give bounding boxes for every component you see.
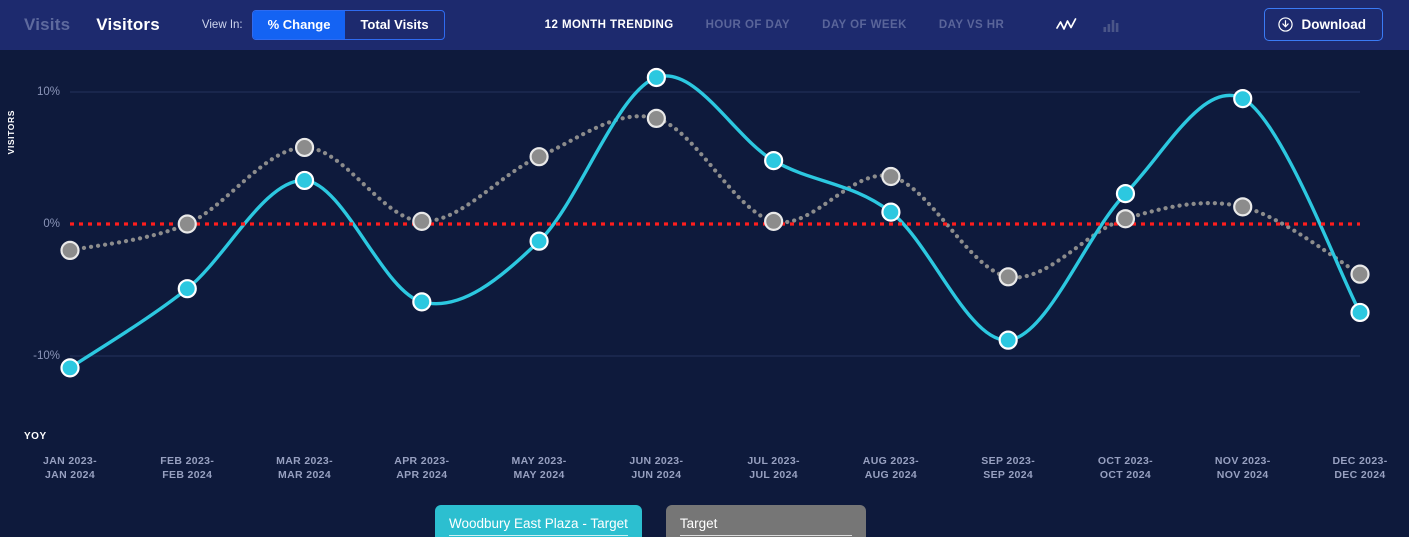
data-point[interactable] <box>413 293 430 310</box>
data-point[interactable] <box>765 152 782 169</box>
data-point[interactable] <box>1000 332 1017 349</box>
data-point[interactable] <box>62 242 79 259</box>
data-point[interactable] <box>179 216 196 233</box>
x-tick-label: JAN 2023-JAN 2024 <box>5 454 135 482</box>
x-tick-label: MAY 2023-MAY 2024 <box>474 454 604 482</box>
view-in-percent-change-button[interactable]: % Change <box>253 11 346 39</box>
data-point[interactable] <box>1352 266 1369 283</box>
download-label: Download <box>1302 17 1367 32</box>
nav-hour-of-day[interactable]: HOUR OF DAY <box>706 19 790 31</box>
download-circle-icon <box>1278 17 1293 32</box>
x-tick-line2: FEB 2024 <box>122 468 252 482</box>
x-tick-line2: OCT 2024 <box>1060 468 1190 482</box>
data-point[interactable] <box>296 139 313 156</box>
x-tick-line2: MAY 2024 <box>474 468 604 482</box>
x-tick-line2: JAN 2024 <box>5 468 135 482</box>
legend-primary-name: Woodbury East Plaza - Target <box>449 513 628 536</box>
gridlines <box>70 92 1360 356</box>
data-point[interactable] <box>648 110 665 127</box>
data-point[interactable] <box>765 213 782 230</box>
data-point[interactable] <box>531 148 548 165</box>
x-tick-line1: MAY 2023- <box>474 454 604 468</box>
series-target <box>70 116 1360 277</box>
data-point[interactable] <box>882 204 899 221</box>
nav-day-of-week[interactable]: DAY OF WEEK <box>822 19 907 31</box>
x-tick-label: JUL 2023-JUL 2024 <box>709 454 839 482</box>
x-tick-label: FEB 2023-FEB 2024 <box>122 454 252 482</box>
data-point[interactable] <box>296 172 313 189</box>
data-point[interactable] <box>1234 198 1251 215</box>
x-tick-line1: MAR 2023- <box>240 454 370 468</box>
x-tick-label: AUG 2023-AUG 2024 <box>826 454 956 482</box>
x-tick-line2: MAR 2024 <box>240 468 370 482</box>
x-tick-line1: JUL 2023- <box>709 454 839 468</box>
data-point[interactable] <box>648 69 665 86</box>
data-point[interactable] <box>179 280 196 297</box>
line-chart-icon[interactable] <box>1056 18 1077 32</box>
x-tick-line2: JUN 2024 <box>591 468 721 482</box>
view-in-segmented-control: % Change Total Visits <box>252 10 445 40</box>
chart-area: VISITORS YOY 10% 0% -10% JAN 2023-JAN 20… <box>0 50 1409 537</box>
legend-card-woodbury[interactable]: Woodbury East Plaza - Target Jan 2024 - … <box>435 505 642 537</box>
x-tick-label: DEC 2023-DEC 2024 <box>1295 454 1409 482</box>
data-points-woodbury <box>62 69 1369 376</box>
x-tick-line2: AUG 2024 <box>826 468 956 482</box>
download-button[interactable]: Download <box>1264 8 1384 41</box>
x-tick-line1: OCT 2023- <box>1060 454 1190 468</box>
legend-secondary-name: Target <box>680 513 852 536</box>
x-tick-line2: NOV 2024 <box>1178 468 1308 482</box>
x-tick-label: MAR 2023-MAR 2024 <box>240 454 370 482</box>
bar-chart-icon[interactable] <box>1103 18 1121 32</box>
app-header: Visits Visitors View In: % Change Total … <box>0 0 1409 50</box>
view-in-control: View In: % Change Total Visits <box>202 10 445 40</box>
chart-plot <box>0 50 1409 450</box>
data-point[interactable] <box>62 359 79 376</box>
x-tick-label: JUN 2023-JUN 2024 <box>591 454 721 482</box>
data-point[interactable] <box>1117 185 1134 202</box>
legend-card-target[interactable]: Target Jan 2024 - Dec 2024 Total 14.25% … <box>666 505 866 537</box>
x-tick-line2: APR 2024 <box>357 468 487 482</box>
tab-visitors[interactable]: Visitors <box>96 15 160 35</box>
data-point[interactable] <box>1352 304 1369 321</box>
series-woodbury-east-plaza <box>70 76 1360 368</box>
data-point[interactable] <box>1000 268 1017 285</box>
nav-day-vs-hr[interactable]: DAY VS HR <box>939 19 1004 31</box>
chart-type-toggle-group <box>1056 18 1121 32</box>
x-tick-label: NOV 2023-NOV 2024 <box>1178 454 1308 482</box>
x-tick-label: OCT 2023-OCT 2024 <box>1060 454 1190 482</box>
data-point[interactable] <box>882 168 899 185</box>
view-in-label: View In: <box>202 19 243 31</box>
x-tick-label: SEP 2023-SEP 2024 <box>943 454 1073 482</box>
tab-visits[interactable]: Visits <box>24 15 70 35</box>
x-tick-line1: JUN 2023- <box>591 454 721 468</box>
x-tick-line1: NOV 2023- <box>1178 454 1308 468</box>
data-point[interactable] <box>1234 90 1251 107</box>
x-tick-label: APR 2023-APR 2024 <box>357 454 487 482</box>
x-tick-line1: APR 2023- <box>357 454 487 468</box>
report-nav-group: 12 MONTH TRENDING HOUR OF DAY DAY OF WEE… <box>545 19 1005 31</box>
x-tick-line1: JAN 2023- <box>5 454 135 468</box>
x-tick-line1: DEC 2023- <box>1295 454 1409 468</box>
x-tick-line2: JUL 2024 <box>709 468 839 482</box>
data-point[interactable] <box>531 233 548 250</box>
x-tick-line2: SEP 2024 <box>943 468 1073 482</box>
x-tick-line1: FEB 2023- <box>122 454 252 468</box>
view-in-total-visits-button[interactable]: Total Visits <box>345 11 443 39</box>
data-point[interactable] <box>1117 210 1134 227</box>
x-tick-line2: DEC 2024 <box>1295 468 1409 482</box>
nav-12-month-trending[interactable]: 12 MONTH TRENDING <box>545 19 674 31</box>
chart-legend: Woodbury East Plaza - Target Jan 2024 - … <box>435 505 866 537</box>
metric-tab-group: Visits Visitors <box>24 15 160 35</box>
x-tick-line1: AUG 2023- <box>826 454 956 468</box>
data-point[interactable] <box>413 213 430 230</box>
x-tick-line1: SEP 2023- <box>943 454 1073 468</box>
